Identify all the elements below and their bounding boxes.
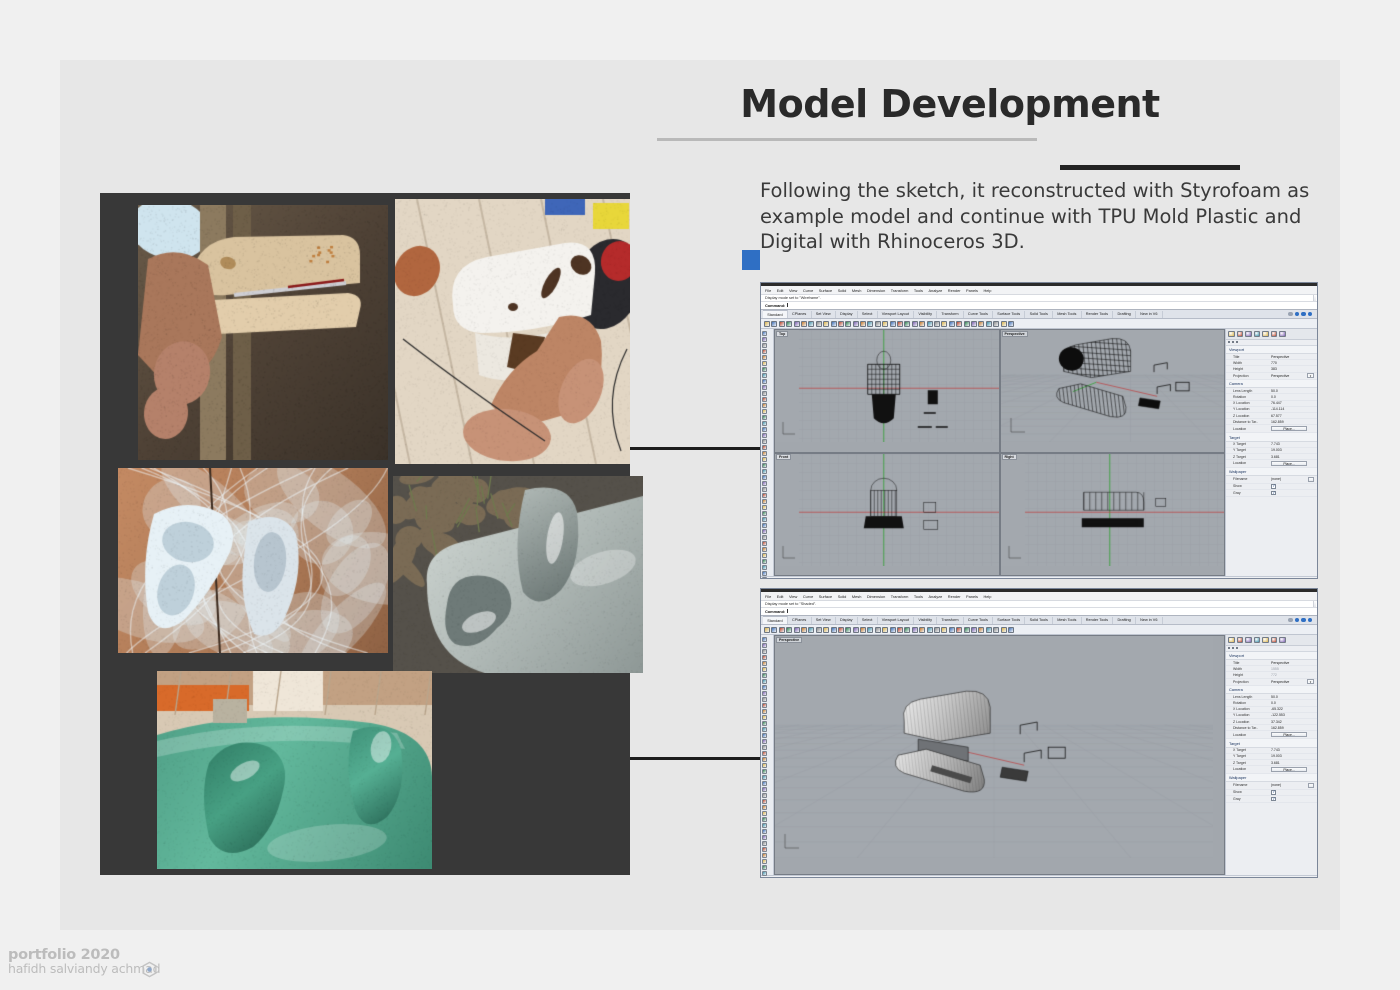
left-tool-palette[interactable] <box>761 635 774 875</box>
toolbar-tab-display[interactable]: Display <box>836 311 858 318</box>
left-tool-icon-37[interactable] <box>762 547 767 552</box>
toolbar-icon-5[interactable] <box>794 627 800 633</box>
viewport-perspective[interactable]: Perspective <box>774 635 1225 875</box>
osnap-int[interactable]: Int <box>837 578 846 579</box>
left-tool-icon-34[interactable] <box>762 835 767 840</box>
osnap-checkbox[interactable] <box>877 578 881 579</box>
toolbar-nav-icons[interactable] <box>1288 618 1315 623</box>
menu-item[interactable]: Transform <box>891 288 909 293</box>
toolbar-tab-cplanes[interactable]: CPlanes <box>788 311 812 318</box>
environment-tab-icon[interactable] <box>1271 331 1278 338</box>
toolbar-icon-1[interactable] <box>764 627 770 633</box>
place-button[interactable]: Place... <box>1271 732 1307 738</box>
toolbar-icon-31[interactable] <box>986 627 992 633</box>
left-tool-icon-18[interactable] <box>762 739 767 744</box>
toolbar-icon-8[interactable] <box>816 321 822 327</box>
left-tool-icon-17[interactable] <box>762 427 767 432</box>
toolbar-icon-23[interactable] <box>927 627 933 633</box>
osnap-bar[interactable]: EndNearPointMidCenIntPerpTanQuadKnotVert… <box>761 576 1317 579</box>
toolbar-icon-3[interactable] <box>779 321 785 327</box>
toolbar-icon-9[interactable] <box>823 627 829 633</box>
toolbar-tab-row[interactable]: Standard CPlanes Set View Display Select… <box>761 310 1317 319</box>
toolbar-icon-10[interactable] <box>831 321 837 327</box>
left-tool-icon-7[interactable] <box>762 673 767 678</box>
menu-item[interactable]: File <box>765 288 771 293</box>
osnap-checkbox[interactable] <box>908 578 912 579</box>
toolbar-icon-32[interactable] <box>993 321 999 327</box>
left-tool-icon-26[interactable] <box>762 481 767 486</box>
toolbar-tab-solid-tools[interactable]: Solid Tools <box>1025 311 1053 318</box>
toolbar-tab-transform[interactable]: Transform <box>937 617 964 624</box>
viewport-label-right[interactable]: Right <box>1002 454 1017 460</box>
osnap-tan[interactable]: Tan <box>863 877 873 878</box>
toolbar-icon-6[interactable] <box>801 321 807 327</box>
left-tool-icon-1[interactable] <box>762 637 767 642</box>
osnap-checkbox[interactable] <box>794 877 798 878</box>
menu-item[interactable]: Mesh <box>852 288 862 293</box>
properties-panel[interactable]: ViewportTitlePerspectiveWidth770Height38… <box>1225 329 1317 576</box>
osnap-near[interactable]: Near <box>779 578 791 579</box>
left-tool-icon-15[interactable] <box>762 415 767 420</box>
toolbar-icon-2[interactable] <box>771 627 777 633</box>
left-tool-icon-38[interactable] <box>762 859 767 864</box>
toolbar-icon-13[interactable] <box>853 321 859 327</box>
osnap-checkbox[interactable] <box>863 578 867 579</box>
left-tool-icon-23[interactable] <box>762 769 767 774</box>
osnap-checkbox[interactable] <box>925 578 929 579</box>
browse-file-button[interactable] <box>1308 783 1314 788</box>
options-gear-icon[interactable] <box>1279 637 1286 644</box>
left-tool-icon-11[interactable] <box>762 697 767 702</box>
toolbar-tab-standard[interactable]: Standard <box>763 310 788 318</box>
left-tool-icon-2[interactable] <box>762 337 767 342</box>
left-tool-icon-13[interactable] <box>762 709 767 714</box>
left-tool-icon-24[interactable] <box>762 469 767 474</box>
menu-item[interactable]: Analyze <box>928 288 942 293</box>
viewport-perspective[interactable]: Perspective <box>1000 329 1226 453</box>
osnap-checkbox[interactable] <box>779 578 783 579</box>
menu-item[interactable]: Transform <box>891 594 909 599</box>
viewport-front[interactable]: Front <box>774 453 1000 577</box>
panel-tab-icons[interactable] <box>1226 635 1317 646</box>
chevron-down-icon[interactable]: ▾ <box>1307 679 1314 684</box>
toolbar-icon-4[interactable] <box>786 627 792 633</box>
toolbar-icon-14[interactable] <box>860 321 866 327</box>
osnap-cen[interactable]: Cen <box>823 578 834 579</box>
viewport-perspective-canvas[interactable] <box>1001 330 1226 442</box>
left-tool-icon-40[interactable] <box>762 871 767 876</box>
toolbar-icon-22[interactable] <box>919 627 925 633</box>
toolbar-icon-14[interactable] <box>860 627 866 633</box>
toolbar-icon-19[interactable] <box>897 627 903 633</box>
menu-item[interactable]: Panels <box>966 288 978 293</box>
osnap-tan[interactable]: Tan <box>863 578 873 579</box>
viewport-top[interactable]: Top <box>774 329 1000 453</box>
layers-tab-icon[interactable] <box>1237 331 1244 338</box>
command-scrollbar[interactable] <box>1313 601 1316 607</box>
toolbar-icon-3[interactable] <box>779 627 785 633</box>
toolbar-icon-27[interactable] <box>956 627 962 633</box>
menu-item[interactable]: Curve <box>803 594 813 599</box>
left-tool-icon-15[interactable] <box>762 721 767 726</box>
left-tool-icon-5[interactable] <box>762 661 767 666</box>
menu-item[interactable]: Surface <box>819 594 832 599</box>
left-tool-icon-11[interactable] <box>762 391 767 396</box>
osnap-checkbox[interactable] <box>837 578 841 579</box>
osnap-quad[interactable]: Quad <box>877 578 890 579</box>
osnap-checkbox[interactable] <box>810 877 814 878</box>
toolbar-icon-32[interactable] <box>993 627 999 633</box>
menu-bar[interactable]: File Edit View Curve Surface Solid Mesh … <box>761 592 1317 601</box>
command-prompt[interactable]: Command: <box>761 608 1317 617</box>
left-tool-icon-12[interactable] <box>762 397 767 402</box>
left-tool-icon-24[interactable] <box>762 775 767 780</box>
left-tool-icon-30[interactable] <box>762 505 767 510</box>
osnap-checkbox[interactable] <box>925 877 929 878</box>
toolbar-tab-drafting[interactable]: Drafting <box>1113 311 1136 318</box>
left-tool-icon-14[interactable] <box>762 715 767 720</box>
viewport-properties-icon[interactable] <box>1232 341 1234 343</box>
toolbar-icon-15[interactable] <box>867 627 873 633</box>
toolbar-icon-29[interactable] <box>971 627 977 633</box>
left-tool-icon-6[interactable] <box>762 361 767 366</box>
toolbar-icon-34[interactable] <box>1008 627 1014 633</box>
viewport-right-canvas[interactable] <box>1001 454 1226 566</box>
osnap-checkbox[interactable] <box>908 877 912 878</box>
left-tool-icon-10[interactable] <box>762 691 767 696</box>
left-tool-icon-4[interactable] <box>762 655 767 660</box>
toolbar-icon-11[interactable] <box>838 627 844 633</box>
toolbar-icon-33[interactable] <box>1001 321 1007 327</box>
viewport-properties-icon[interactable] <box>1232 647 1234 649</box>
toolbar-tab-transform[interactable]: Transform <box>937 311 964 318</box>
left-tool-icon-35[interactable] <box>762 535 767 540</box>
properties-tab-icon[interactable] <box>1228 637 1235 644</box>
left-tool-icon-27[interactable] <box>762 793 767 798</box>
left-tool-icon-36[interactable] <box>762 541 767 546</box>
rhino-logo-icon-1[interactable] <box>1295 618 1300 623</box>
left-tool-icon-8[interactable] <box>762 373 767 378</box>
left-tool-icon-39[interactable] <box>762 865 767 870</box>
osnap-checkbox[interactable] <box>779 877 783 878</box>
toolbar-tab-new-in-v6[interactable]: New in V6 <box>1136 617 1163 624</box>
display-tab-icon[interactable] <box>1254 331 1261 338</box>
rhino-window-shaded[interactable]: File Edit View Curve Surface Solid Mesh … <box>760 588 1318 878</box>
left-tool-icon-3[interactable] <box>762 649 767 654</box>
osnap-disable[interactable]: Disable <box>944 877 960 878</box>
osnap-end[interactable]: End <box>765 877 776 878</box>
menu-item[interactable]: View <box>789 288 797 293</box>
help-circle-icon[interactable] <box>1288 312 1293 317</box>
toolbar-icon-16[interactable] <box>875 321 881 327</box>
menu-item[interactable]: Solid <box>838 288 847 293</box>
toolbar-icon-24[interactable] <box>934 627 940 633</box>
rhino-logo-icon-1[interactable] <box>1295 312 1300 317</box>
left-tool-icon-30[interactable] <box>762 811 767 816</box>
left-tool-icon-33[interactable] <box>762 829 767 834</box>
left-tool-icon-2[interactable] <box>762 643 767 648</box>
render-tab-icon[interactable] <box>1262 331 1269 338</box>
osnap-bar[interactable]: EndNearPointMidCenIntPerpTanQuadKnotVert… <box>761 875 1317 878</box>
osnap-cen[interactable]: Cen <box>823 877 834 878</box>
osnap-checkbox[interactable] <box>877 877 881 878</box>
menu-item[interactable]: Solid <box>838 594 847 599</box>
toolbar-icon-6[interactable] <box>801 627 807 633</box>
left-tool-icon-16[interactable] <box>762 421 767 426</box>
viewport-shaded-canvas[interactable] <box>775 636 1213 858</box>
materials-tab-icon[interactable] <box>1245 331 1252 338</box>
left-tool-icon-19[interactable] <box>762 439 767 444</box>
toolbar-tab-render-tools[interactable]: Render Tools <box>1082 311 1114 318</box>
standard-toolbar-icons[interactable] <box>761 319 1317 329</box>
left-tool-icon-20[interactable] <box>762 751 767 756</box>
link-properties-icon[interactable] <box>1236 341 1238 343</box>
osnap-project[interactable]: Project <box>925 578 941 579</box>
left-tool-icon-31[interactable] <box>762 511 767 516</box>
osnap-quad[interactable]: Quad <box>877 877 890 878</box>
osnap-perp[interactable]: Perp <box>848 578 860 579</box>
osnap-vertex[interactable]: Vertex <box>908 578 923 579</box>
left-tool-icon-21[interactable] <box>762 451 767 456</box>
left-tool-icon-4[interactable] <box>762 349 767 354</box>
osnap-checkbox[interactable] <box>848 578 852 579</box>
osnap-checkbox[interactable] <box>944 877 948 878</box>
osnap-end[interactable]: End <box>765 578 776 579</box>
osnap-checkbox[interactable] <box>863 877 867 878</box>
toolbar-icon-30[interactable] <box>978 627 984 633</box>
viewport-front-canvas[interactable] <box>775 454 1000 566</box>
osnap-checkbox[interactable] <box>893 877 897 878</box>
properties-tab-icon[interactable] <box>1228 331 1235 338</box>
left-tool-icon-29[interactable] <box>762 805 767 810</box>
toolbar-icon-10[interactable] <box>831 627 837 633</box>
menu-item[interactable]: Help <box>983 288 991 293</box>
left-tool-icon-32[interactable] <box>762 823 767 828</box>
toolbar-icon-9[interactable] <box>823 321 829 327</box>
osnap-mid[interactable]: Mid <box>810 578 820 579</box>
menu-item[interactable]: Dimension <box>867 594 885 599</box>
standard-toolbar-icons[interactable] <box>761 625 1317 635</box>
menu-item[interactable]: Dimension <box>867 288 885 293</box>
toolbar-tab-display[interactable]: Display <box>836 617 858 624</box>
toolbar-icon-30[interactable] <box>978 321 984 327</box>
toolbar-tab-drafting[interactable]: Drafting <box>1113 617 1136 624</box>
toolbar-tab-cplanes[interactable]: CPlanes <box>788 617 812 624</box>
toolbar-icon-2[interactable] <box>771 321 777 327</box>
left-tool-icon-37[interactable] <box>762 853 767 858</box>
render-tab-icon[interactable] <box>1262 637 1269 644</box>
materials-tab-icon[interactable] <box>1245 637 1252 644</box>
osnap-point[interactable]: Point <box>794 877 807 878</box>
toolbar-tab-solid-tools[interactable]: Solid Tools <box>1025 617 1053 624</box>
menu-item[interactable]: Edit <box>777 594 784 599</box>
osnap-checkbox[interactable] <box>944 578 948 579</box>
menu-item[interactable]: Panels <box>966 594 978 599</box>
link-properties-icon[interactable] <box>1236 647 1238 649</box>
left-tool-icon-29[interactable] <box>762 499 767 504</box>
toolbar-tab-new-in-v6[interactable]: New in V6 <box>1136 311 1163 318</box>
chevron-down-icon[interactable]: ▾ <box>1307 373 1314 378</box>
left-tool-icon-8[interactable] <box>762 679 767 684</box>
viewport-right[interactable]: Right <box>1000 453 1226 577</box>
toolbar-icon-17[interactable] <box>882 627 888 633</box>
osnap-int[interactable]: Int <box>837 877 846 878</box>
menu-bar[interactable]: File Edit View Curve Surface Solid Mesh … <box>761 286 1317 295</box>
place-button[interactable]: Place... <box>1271 461 1307 467</box>
toolbar-icon-15[interactable] <box>867 321 873 327</box>
toolbar-icon-5[interactable] <box>794 321 800 327</box>
osnap-checkbox[interactable] <box>794 578 798 579</box>
help-circle-icon[interactable] <box>1288 618 1293 623</box>
environment-tab-icon[interactable] <box>1271 637 1278 644</box>
left-tool-icon-26[interactable] <box>762 787 767 792</box>
property-checkbox[interactable] <box>1271 797 1276 802</box>
menu-item[interactable]: Tools <box>914 594 923 599</box>
left-tool-icon-41[interactable] <box>762 571 767 576</box>
toolbar-icon-28[interactable] <box>964 627 970 633</box>
left-tool-icon-9[interactable] <box>762 379 767 384</box>
osnap-checkbox[interactable] <box>765 578 769 579</box>
menu-item[interactable]: Mesh <box>852 594 862 599</box>
left-tool-icon-36[interactable] <box>762 847 767 852</box>
rhino-window-wireframe[interactable]: File Edit View Curve Surface Solid Mesh … <box>760 282 1318 579</box>
left-tool-icon-22[interactable] <box>762 763 767 768</box>
browse-file-button[interactable] <box>1308 477 1314 482</box>
toolbar-tab-viewport-layout[interactable]: Viewport Layout <box>878 617 915 624</box>
toolbar-icon-18[interactable] <box>890 321 896 327</box>
left-tool-icon-39[interactable] <box>762 559 767 564</box>
properties-panel[interactable]: ViewportTitlePerspectiveWidth1555Height7… <box>1225 635 1317 875</box>
camera-properties-icon[interactable] <box>1228 647 1230 649</box>
left-tool-icon-25[interactable] <box>762 781 767 786</box>
menu-item[interactable]: Curve <box>803 288 813 293</box>
left-tool-icon-9[interactable] <box>762 685 767 690</box>
osnap-mid[interactable]: Mid <box>810 877 820 878</box>
menu-item[interactable]: Surface <box>819 288 832 293</box>
options-gear-icon[interactable] <box>1279 331 1286 338</box>
toolbar-icon-20[interactable] <box>904 627 910 633</box>
left-tool-icon-19[interactable] <box>762 745 767 750</box>
menu-item[interactable]: Help <box>983 594 991 599</box>
osnap-checkbox[interactable] <box>837 877 841 878</box>
toolbar-icon-12[interactable] <box>845 627 851 633</box>
menu-item[interactable]: View <box>789 594 797 599</box>
osnap-checkbox[interactable] <box>823 877 827 878</box>
toolbar-tab-visibility[interactable]: Visibility <box>914 311 937 318</box>
osnap-perp[interactable]: Perp <box>848 877 860 878</box>
menu-item[interactable]: Analyze <box>928 594 942 599</box>
toolbar-tab-standard[interactable]: Standard <box>763 616 788 624</box>
viewport-label-perspective[interactable]: Perspective <box>776 637 802 643</box>
toolbar-tab-curve-tools[interactable]: Curve Tools <box>964 311 993 318</box>
left-tool-icon-23[interactable] <box>762 463 767 468</box>
left-tool-icon-21[interactable] <box>762 757 767 762</box>
toolbar-icon-26[interactable] <box>949 321 955 327</box>
left-tool-icon-25[interactable] <box>762 475 767 480</box>
toolbar-icon-29[interactable] <box>971 321 977 327</box>
menu-item[interactable]: File <box>765 594 771 599</box>
viewport-label-front[interactable]: Front <box>776 454 791 460</box>
command-prompt[interactable]: Command: <box>761 302 1317 311</box>
menu-item[interactable]: Tools <box>914 288 923 293</box>
left-tool-icon-32[interactable] <box>762 517 767 522</box>
property-checkbox[interactable] <box>1271 790 1276 795</box>
viewport-top-canvas[interactable] <box>775 330 1000 442</box>
toolbar-icon-4[interactable] <box>786 321 792 327</box>
osnap-near[interactable]: Near <box>779 877 791 878</box>
panel-tab-icons[interactable] <box>1226 329 1317 340</box>
left-tool-icon-17[interactable] <box>762 733 767 738</box>
toolbar-icon-22[interactable] <box>919 321 925 327</box>
menu-item[interactable]: Render <box>948 594 961 599</box>
toolbar-icon-11[interactable] <box>838 321 844 327</box>
left-tool-icon-18[interactable] <box>762 433 767 438</box>
osnap-checkbox[interactable] <box>848 877 852 878</box>
toolbar-tab-mesh-tools[interactable]: Mesh Tools <box>1053 617 1082 624</box>
rhino-logo-icon-2[interactable] <box>1301 618 1306 623</box>
toolbar-icon-25[interactable] <box>941 627 947 633</box>
place-button[interactable]: Place... <box>1271 426 1307 432</box>
osnap-checkbox[interactable] <box>823 578 827 579</box>
left-tool-icon-28[interactable] <box>762 493 767 498</box>
toolbar-tab-set-view[interactable]: Set View <box>812 311 836 318</box>
toolbar-icon-33[interactable] <box>1001 627 1007 633</box>
toolbar-icon-17[interactable] <box>882 321 888 327</box>
left-tool-icon-40[interactable] <box>762 565 767 570</box>
toolbar-tab-surface-tools[interactable]: Surface Tools <box>993 311 1025 318</box>
left-tool-icon-7[interactable] <box>762 367 767 372</box>
left-tool-icon-20[interactable] <box>762 445 767 450</box>
toolbar-icon-7[interactable] <box>808 627 814 633</box>
toolbar-icon-34[interactable] <box>1008 321 1014 327</box>
left-tool-icon-22[interactable] <box>762 457 767 462</box>
osnap-knot[interactable]: Knot <box>893 877 905 878</box>
toolbar-icon-28[interactable] <box>964 321 970 327</box>
property-checkbox[interactable] <box>1271 491 1276 496</box>
left-tool-icon-12[interactable] <box>762 703 767 708</box>
left-tool-icon-1[interactable] <box>762 331 767 336</box>
left-tool-icon-31[interactable] <box>762 817 767 822</box>
viewport-label-top[interactable]: Top <box>776 331 788 337</box>
left-tool-icon-13[interactable] <box>762 403 767 408</box>
left-tool-icon-34[interactable] <box>762 529 767 534</box>
toolbar-icon-24[interactable] <box>934 321 940 327</box>
toolbar-icon-16[interactable] <box>875 627 881 633</box>
toolbar-icon-31[interactable] <box>986 321 992 327</box>
toolbar-tab-row[interactable]: Standard CPlanes Set View Display Select… <box>761 616 1317 625</box>
left-tool-icon-3[interactable] <box>762 343 767 348</box>
toolbar-nav-icons[interactable] <box>1288 312 1315 317</box>
property-checkbox[interactable] <box>1271 484 1276 489</box>
osnap-point[interactable]: Point <box>794 578 807 579</box>
toolbar-icon-12[interactable] <box>845 321 851 327</box>
left-tool-icon-38[interactable] <box>762 553 767 558</box>
left-tool-icon-14[interactable] <box>762 409 767 414</box>
left-tool-icon-16[interactable] <box>762 727 767 732</box>
menu-item[interactable]: Render <box>948 288 961 293</box>
osnap-checkbox[interactable] <box>893 578 897 579</box>
menu-item[interactable]: Edit <box>777 288 784 293</box>
toolbar-tab-set-view[interactable]: Set View <box>812 617 836 624</box>
display-tab-icon[interactable] <box>1254 637 1261 644</box>
toolbar-tab-curve-tools[interactable]: Curve Tools <box>964 617 993 624</box>
toolbar-tab-select[interactable]: Select <box>858 617 878 624</box>
rhino-logo-icon-3[interactable] <box>1308 618 1313 623</box>
place-button[interactable]: Place... <box>1271 767 1307 773</box>
toolbar-icon-18[interactable] <box>890 627 896 633</box>
toolbar-icon-23[interactable] <box>927 321 933 327</box>
left-tool-icon-33[interactable] <box>762 523 767 528</box>
